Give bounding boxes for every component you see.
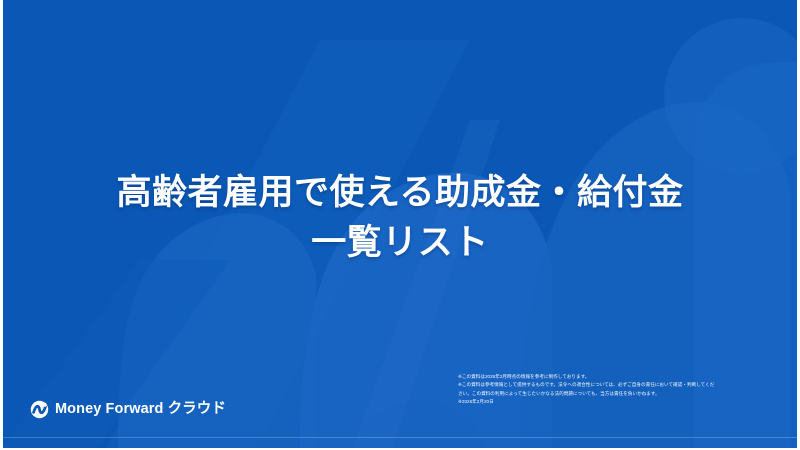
page-title: 高齢者雇用で使える助成金・給付金 一覧リスト [0,168,800,267]
title-slide: 高齢者雇用で使える助成金・給付金 一覧リスト ※この資料は2026年2月時点の情… [0,0,800,450]
brand-logo: Money Forward クラウド [30,400,226,419]
bottom-hairline-divider [3,437,797,438]
title-line-2: 一覧リスト [60,218,740,268]
brand-logo-text: Money Forward クラウド [55,402,226,417]
disclaimer-line-3: さい。この資料の利用によって生じたいかなる法的問題についても、当方は責任を負いか… [458,390,758,398]
disclaimer-line-2: ※この資料は参考情報として提供するものです。法令への適合性については、必ずご自身… [458,381,758,389]
money-forward-circle-mark-icon [30,400,49,419]
disclaimer-line-1: ※この資料は2026年2月時点の情報を参考に制作しております。 [458,373,758,381]
disclaimer-line-4: ※2026年2月20日 [458,398,758,406]
title-line-1: 高齢者雇用で使える助成金・給付金 [60,168,740,218]
disclaimer-note: ※この資料は2026年2月時点の情報を参考に制作しております。 ※この資料は参考… [458,373,758,407]
